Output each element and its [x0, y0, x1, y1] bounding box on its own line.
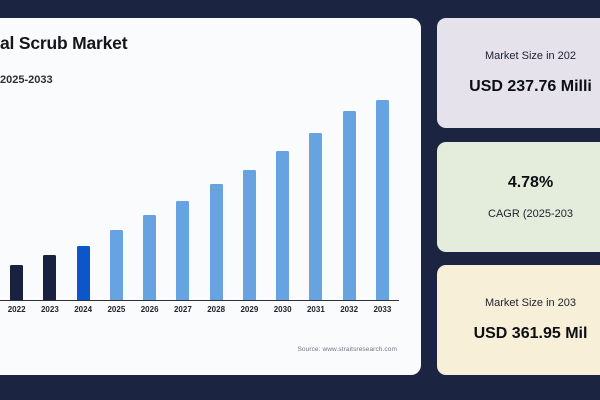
- bar-slot-2025: [100, 100, 133, 301]
- bar-2033: [376, 100, 389, 301]
- stat-card-2: 4.78%CAGR (2025-203: [437, 142, 600, 252]
- bar-slot-2026: [133, 100, 166, 301]
- bar-2025: [110, 230, 123, 301]
- bar-series: [0, 100, 399, 301]
- tick-label-2027: 2027: [166, 305, 199, 314]
- stat-card-label: Market Size in 202: [485, 50, 576, 62]
- stat-card-label: CAGR (2025-203: [488, 208, 573, 220]
- chart-subtitle: 2025-2033: [0, 74, 53, 86]
- bar-slot-2032: [333, 100, 366, 301]
- bar-2022: [10, 265, 23, 301]
- bar-2026: [143, 215, 156, 301]
- bar-slot-2027: [166, 100, 199, 301]
- tick-label-2023: 2023: [33, 305, 66, 314]
- bar-2029: [243, 170, 256, 301]
- bar-slot-2028: [200, 100, 233, 301]
- bar-slot-2030: [266, 100, 299, 301]
- bar-2031: [309, 133, 322, 301]
- stat-card-list: Market Size in 202USD 237.76 Milli4.78%C…: [437, 18, 600, 375]
- tick-label-2025: 2025: [100, 305, 133, 314]
- tick-label-2029: 2029: [233, 305, 266, 314]
- page-title: al Scrub Market: [0, 33, 127, 54]
- stat-card-value: USD 361.95 Mil: [474, 325, 588, 343]
- stat-card-3: Market Size in 203USD 361.95 Mil: [437, 265, 600, 375]
- bar-slot-2023: [33, 100, 66, 301]
- chart-panel: al Scrub Market 2025-2033 20222023202420…: [0, 18, 421, 375]
- tick-label-2024: 2024: [67, 305, 100, 314]
- stat-card-value: 4.78%: [508, 174, 553, 192]
- x-axis-tick-labels: 2022202320242025202620272028202920302031…: [0, 301, 399, 319]
- tick-label-2028: 2028: [200, 305, 233, 314]
- stat-card-1: Market Size in 202USD 237.76 Milli: [437, 18, 600, 128]
- bar-slot-2029: [233, 100, 266, 301]
- bar-2028: [210, 184, 223, 301]
- tick-label-2031: 2031: [299, 305, 332, 314]
- tick-label-2030: 2030: [266, 305, 299, 314]
- bar-2023: [43, 255, 56, 301]
- bar-2030: [276, 151, 289, 301]
- stat-card-label: Market Size in 203: [485, 297, 576, 309]
- bar-slot-2033: [366, 100, 399, 301]
- source-attribution: Source: www.straitsresearch.com: [297, 346, 397, 353]
- tick-label-2026: 2026: [133, 305, 166, 314]
- bar-2032: [343, 111, 356, 301]
- bar-slot-2031: [299, 100, 332, 301]
- stat-card-value: USD 237.76 Milli: [469, 78, 592, 96]
- bar-2027: [176, 201, 189, 301]
- bar-slot-2024: [67, 100, 100, 301]
- bar-2024: [77, 246, 90, 301]
- tick-label-2033: 2033: [366, 305, 399, 314]
- bar-slot-2022: [0, 100, 33, 301]
- tick-label-2032: 2032: [333, 305, 366, 314]
- bar-chart-plot: 2022202320242025202620272028202920302031…: [0, 100, 399, 319]
- tick-label-2022: 2022: [0, 305, 33, 314]
